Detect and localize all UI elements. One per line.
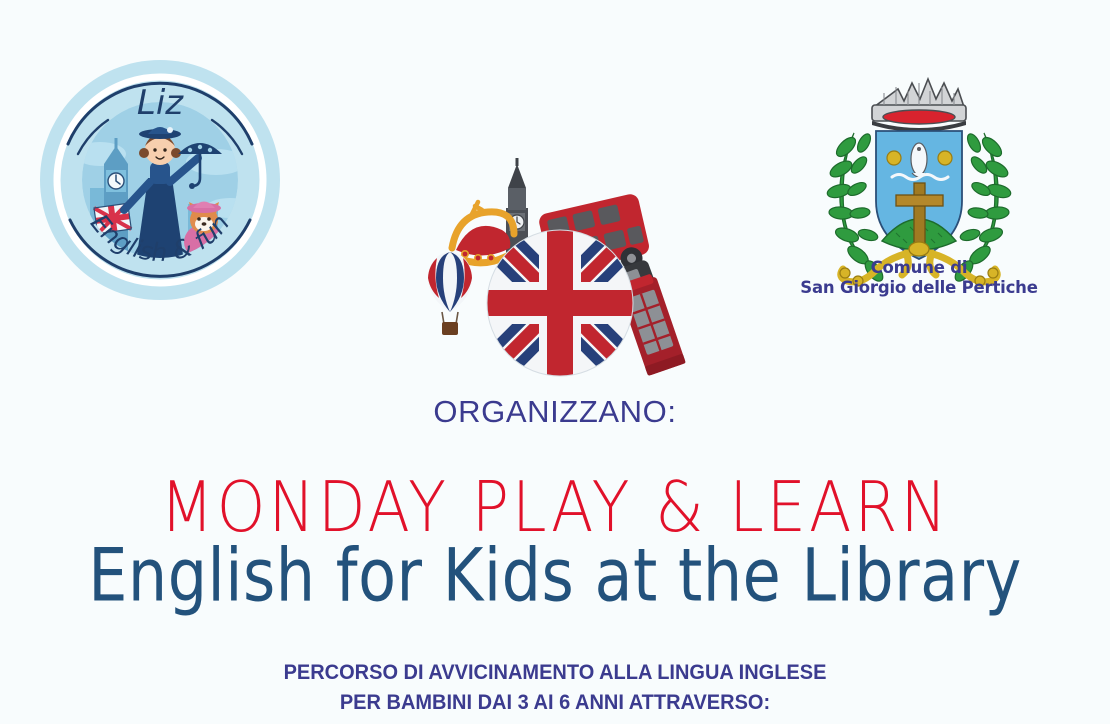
liz-english-fun-logo: Liz English & fun: [38, 58, 282, 302]
gold-disc-left: [887, 151, 901, 165]
uk-flag-collage-logo: [420, 158, 692, 390]
liz-logo-graphic: Liz English & fun: [38, 58, 282, 302]
mural-crown-icon: [872, 79, 966, 132]
liz-logo-top-text: Liz: [137, 83, 184, 123]
poster-description-line2: PER BAMBINI DAI 3 AI 6 ANNI ATTRAVERSO:: [39, 687, 1071, 717]
comune-caption-line1: Comune di: [766, 258, 1072, 278]
crown-icon: [452, 202, 514, 263]
poster-description-line1: PERCORSO DI AVVICINAMENTO ALLA LINGUA IN…: [39, 657, 1071, 687]
poster-description: PERCORSO DI AVVICINAMENTO ALLA LINGUA IN…: [39, 657, 1071, 717]
comune-caption-line2: San Giorgio delle Pertiche: [766, 278, 1072, 298]
poster-canvas: Liz English & fun: [0, 0, 1110, 724]
uk-collage-graphic: [420, 158, 692, 390]
gold-disc-right: [938, 151, 952, 165]
organizzano-label: ORGANIZZANO:: [0, 394, 1110, 430]
hot-air-balloon-icon: [428, 252, 472, 335]
comune-caption: Comune di San Giorgio delle Pertiche: [766, 258, 1072, 298]
shield: [876, 131, 962, 259]
poster-title-sub: English for Kids at the Library: [0, 532, 1110, 618]
